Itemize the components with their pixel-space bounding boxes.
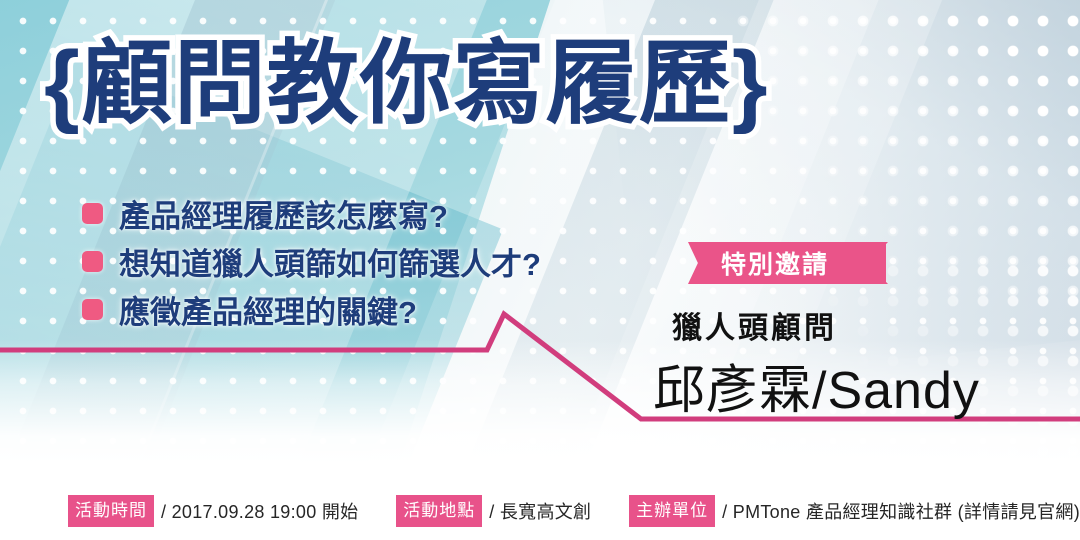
list-item: 產品經理履歷該怎麼寫? (82, 190, 541, 236)
list-item: 應徵產品經理的關鍵? (82, 286, 541, 332)
speaker-name: 邱彥霖/Sandy (653, 348, 980, 423)
event-banner: {顧問教你寫履歷} 產品經理履歷該怎麼寫? 想知道獵人頭篩如何篩選人才? 應徵產… (0, 0, 1080, 540)
footer-time-badge: 活動時間 (68, 495, 154, 527)
square-bullet-icon (82, 203, 103, 224)
footer-place-badge: 活動地點 (396, 495, 482, 527)
footer-place-value: / 長寬高文創 (489, 498, 591, 524)
square-bullet-icon (82, 299, 103, 320)
footer-bar: 活動時間 / 2017.09.28 19:00 開始 活動地點 / 長寬高文創 … (0, 494, 1080, 528)
list-item: 想知道獵人頭篩如何篩選人才? (82, 238, 541, 284)
bullet-label: 產品經理履歷該怎麼寫? (119, 191, 448, 236)
footer-host: 主辦單位 / PMTone 產品經理知識社群 (詳情請見官網) (629, 495, 1080, 527)
footer-time: 活動時間 / 2017.09.28 19:00 開始 (68, 495, 358, 527)
footer-time-value: / 2017.09.28 19:00 開始 (161, 498, 358, 524)
speaker-role: 獵人頭顧問 (672, 303, 837, 347)
footer-host-value: / PMTone 產品經理知識社群 (詳情請見官網) (722, 498, 1080, 524)
ribbon-label: 特別邀請 (705, 242, 845, 284)
bullet-label: 應徵產品經理的關鍵? (119, 287, 417, 332)
footer-host-badge: 主辦單位 (629, 495, 715, 527)
footer-place: 活動地點 / 長寬高文創 (396, 495, 591, 527)
square-bullet-icon (82, 251, 103, 272)
bullet-label: 想知道獵人頭篩如何篩選人才? (119, 239, 541, 284)
bullet-list: 產品經理履歷該怎麼寫? 想知道獵人頭篩如何篩選人才? 應徵產品經理的關鍵? (82, 190, 541, 334)
page-title: {顧問教你寫履歷} (44, 36, 769, 133)
